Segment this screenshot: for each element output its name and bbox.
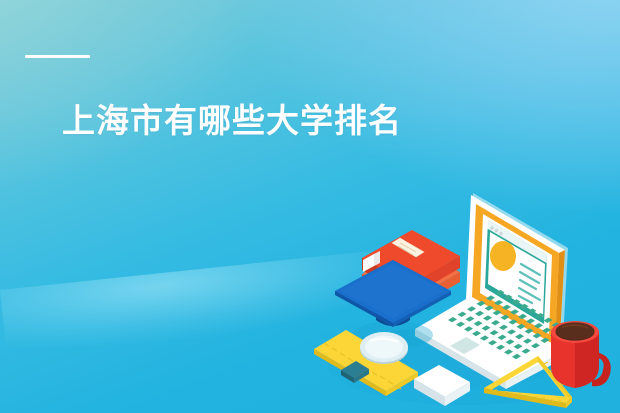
page-title: 上海市有哪些大学排名 — [62, 101, 402, 141]
study-desk-illustration — [300, 160, 620, 413]
accent-rule — [25, 55, 90, 58]
banner: 上海市有哪些大学排名 — [0, 0, 620, 413]
coffee-mug-icon — [551, 321, 611, 388]
